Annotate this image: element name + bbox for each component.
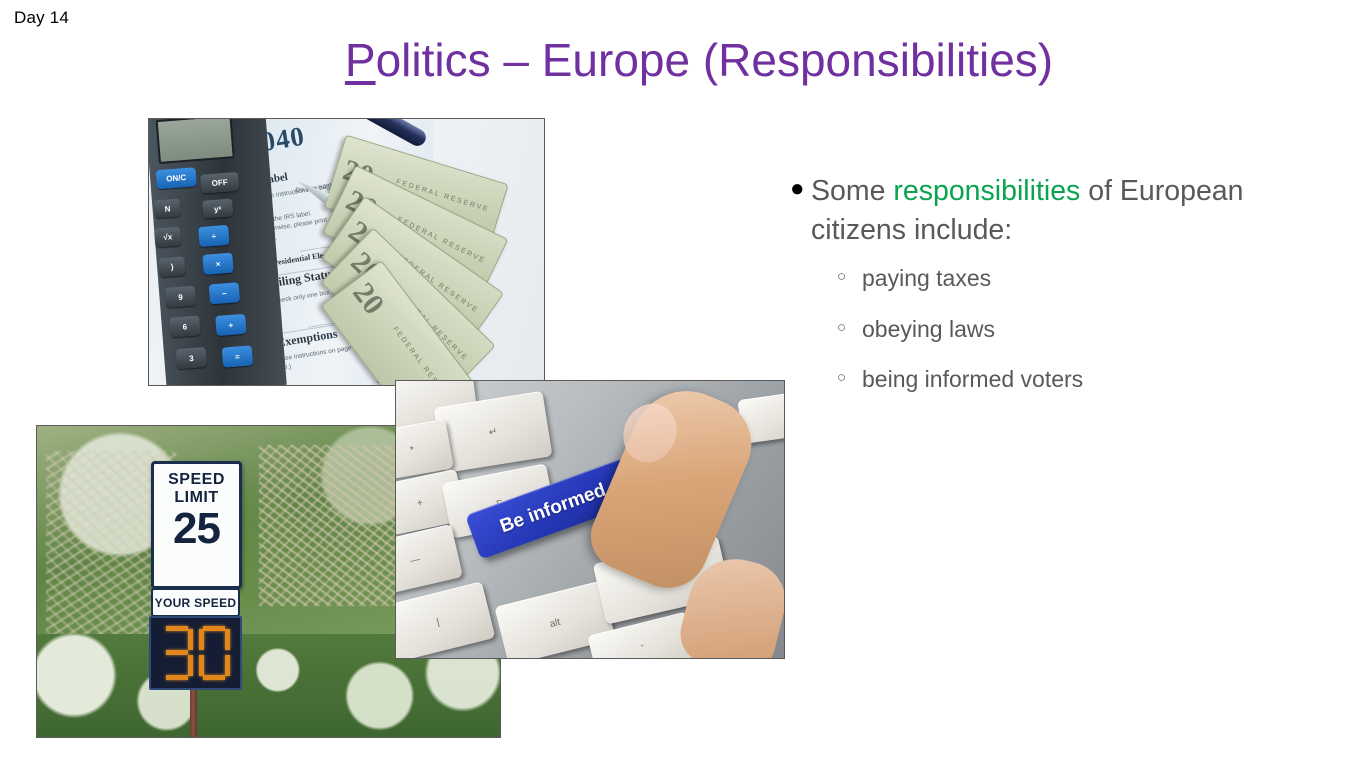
calculator-key: ) <box>158 256 185 277</box>
calculator-key: − <box>209 282 240 304</box>
sub-bullet-glyph: ○ <box>837 314 862 343</box>
led-digit <box>162 626 193 680</box>
calculator-key: 6 <box>169 315 200 337</box>
calculator-key: 3 <box>176 347 207 369</box>
body-text-block: ● Some responsibilities of European citi… <box>790 172 1342 415</box>
led-digit <box>199 626 230 680</box>
calculator-key: yˣ <box>202 198 233 218</box>
calculator-key: OFF <box>200 172 239 194</box>
calculator-display <box>156 118 235 164</box>
sub-bullet-label: being informed voters <box>862 364 1342 395</box>
lead-in-highlight: responsibilities <box>893 175 1080 207</box>
page-title: Politics – Europe (Responsibilities) <box>0 34 1350 87</box>
sub-bullet-list: ○ paying taxes ○ obeying laws ○ being in… <box>790 263 1342 395</box>
sub-bullet-glyph: ○ <box>837 263 862 292</box>
image-be-informed-keyboard: ↵ * + ⌐ — | alt ˇ ctrl Be informed <box>395 380 785 659</box>
bill-denomination: 20 <box>345 277 390 321</box>
image-tax-form-money: 1040 Label (See instructions on page 8.)… <box>148 118 545 386</box>
calculator-key: ON/C <box>156 167 197 189</box>
sign-line-1: SPEED <box>168 471 225 489</box>
bullet-text-primary: Some responsibilities of European citize… <box>811 172 1342 250</box>
calculator-key: √x <box>154 227 181 248</box>
sub-bullet-obeying-laws: ○ obeying laws <box>837 314 1342 345</box>
sub-bullet-label: obeying laws <box>862 314 1342 345</box>
calculator-key: 9 <box>165 286 196 308</box>
lead-in-before: Some <box>811 175 893 207</box>
speed-limit-sign: SPEED LIMIT 25 <box>151 461 242 589</box>
sub-bullet-label: paying taxes <box>862 263 1342 294</box>
sub-bullet-glyph: ○ <box>837 364 862 393</box>
your-speed-label: YOUR SPEED <box>151 588 240 617</box>
calculator-key: = <box>222 345 253 367</box>
calculator-key: ÷ <box>198 225 229 247</box>
title-underlined-initial: P <box>345 34 376 86</box>
calculator-key: × <box>202 253 233 275</box>
bullet-glyph: ● <box>790 172 811 207</box>
radar-speed-display <box>149 616 242 690</box>
title-remainder: olitics – Europe (Responsibilities) <box>376 34 1054 86</box>
bullet-item-primary: ● Some responsibilities of European citi… <box>790 172 1342 250</box>
day-label: Day 14 <box>14 9 69 26</box>
calculator-key: + <box>215 314 246 336</box>
sub-bullet-paying-taxes: ○ paying taxes <box>837 263 1342 294</box>
sub-bullet-being-informed-voters: ○ being informed voters <box>837 364 1342 395</box>
calculator-key: N <box>154 199 181 219</box>
calculator: ON/C OFF yˣ N ÷ √x × ) 9 − 6 + 3 = <box>148 118 287 386</box>
sign-post <box>190 684 197 738</box>
sign-speed-limit-value: 25 <box>173 508 220 551</box>
